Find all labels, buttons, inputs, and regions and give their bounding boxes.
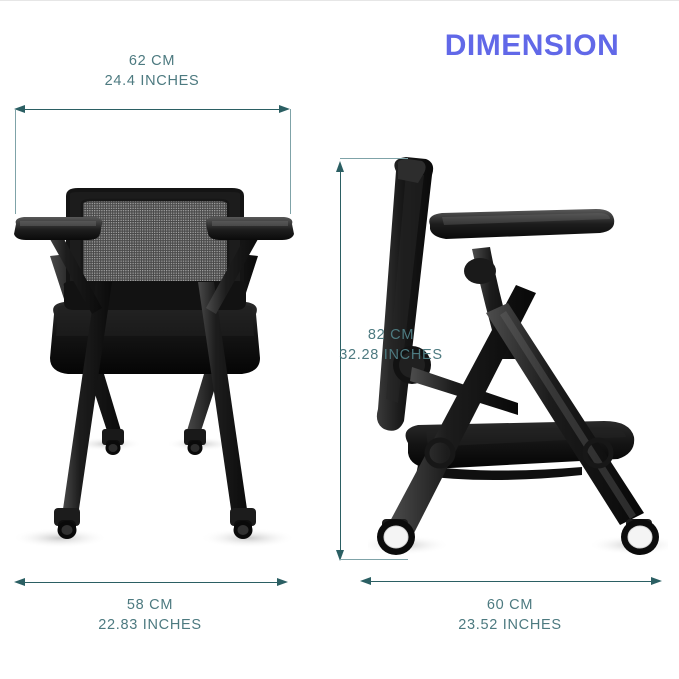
dimension-rule — [22, 582, 280, 583]
extension-line-left — [15, 109, 16, 214]
dimension-label-front-width-bottom: 58 CM 22.83 INCHES — [50, 595, 250, 635]
dimension-imperial-value: 32.28 INCHES — [326, 345, 456, 365]
dimension-label-side-height: 82 CM 32.28 INCHES — [326, 325, 456, 365]
dimension-diagram: DIMENSION — [0, 0, 679, 679]
dimension-label-front-width-top: 62 CM 24.4 INCHES — [52, 51, 252, 91]
extension-line-right — [290, 109, 291, 214]
dimension-imperial-value: 24.4 INCHES — [52, 71, 252, 91]
dimension-metric-value: 82 CM — [368, 327, 414, 343]
extension-line-top — [340, 158, 408, 159]
extension-line-bottom — [340, 559, 408, 560]
arrow-left-icon — [360, 577, 371, 585]
page-title: DIMENSION — [412, 29, 652, 63]
dimension-imperial-value: 23.52 INCHES — [410, 615, 610, 635]
arrow-right-icon — [277, 578, 288, 586]
arrow-right-icon — [279, 105, 290, 113]
arrow-left-icon — [14, 578, 25, 586]
dimension-rule — [22, 109, 282, 110]
arrow-right-icon — [651, 577, 662, 585]
chair-front-view — [10, 186, 300, 566]
dimension-rule — [368, 581, 654, 582]
dimension-metric-value: 60 CM — [487, 597, 533, 613]
arrow-up-icon — [336, 161, 344, 172]
dimension-imperial-value: 22.83 INCHES — [50, 615, 250, 635]
dimension-metric-value: 62 CM — [129, 53, 175, 69]
dimension-label-side-depth-bottom: 60 CM 23.52 INCHES — [410, 595, 610, 635]
dimension-metric-value: 58 CM — [127, 597, 173, 613]
